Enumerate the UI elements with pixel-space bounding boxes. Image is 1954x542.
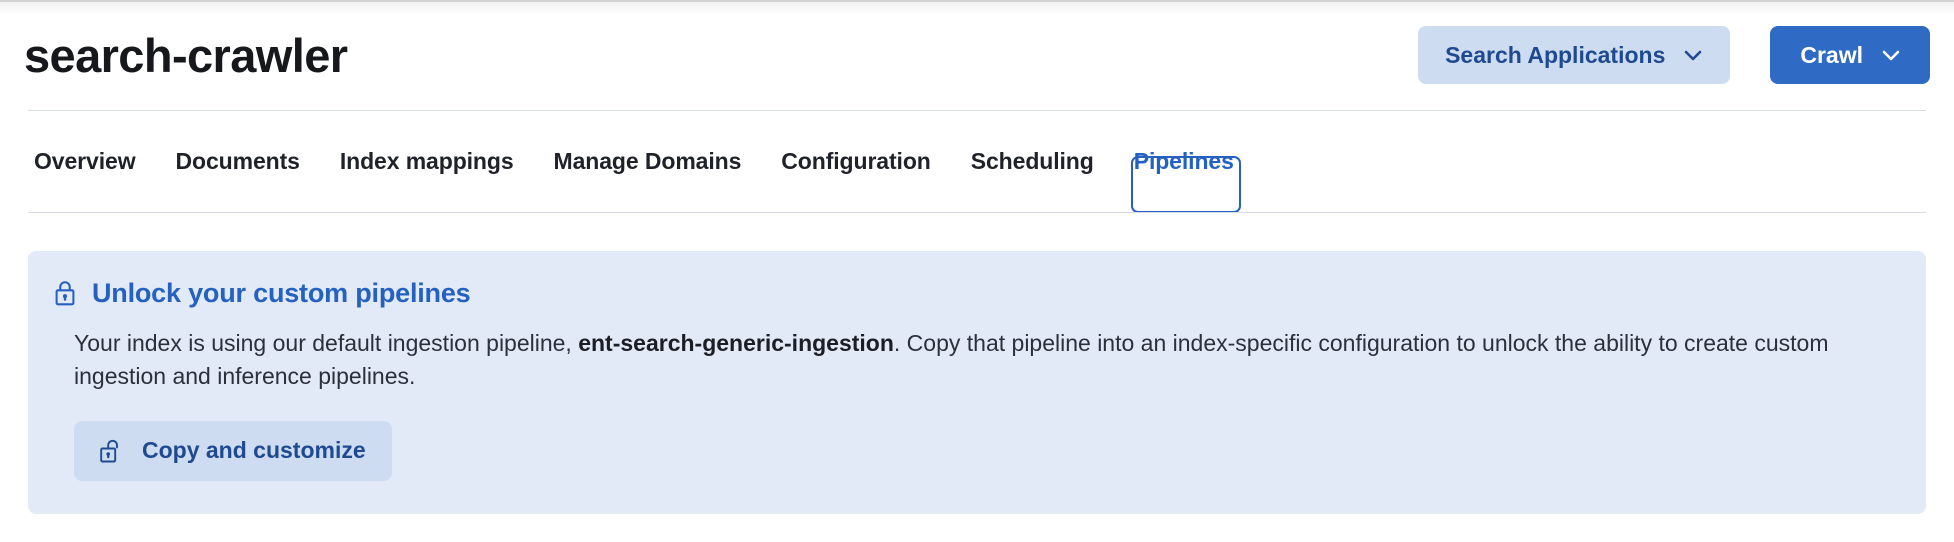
- page-title: search-crawler: [24, 32, 347, 79]
- tab-scheduling[interactable]: Scheduling: [951, 110, 1114, 212]
- unlock-pipelines-callout: Unlock your custom pipelines Your index …: [28, 251, 1926, 514]
- callout-title-row: Unlock your custom pipelines: [52, 277, 1902, 309]
- tab-index-mappings[interactable]: Index mappings: [320, 110, 534, 212]
- crawl-button[interactable]: Crawl: [1770, 26, 1930, 84]
- crawl-label: Crawl: [1800, 44, 1863, 67]
- tab-documents[interactable]: Documents: [156, 110, 320, 212]
- tab-configuration[interactable]: Configuration: [761, 110, 950, 212]
- search-applications-label: Search Applications: [1445, 44, 1665, 67]
- callout-title: Unlock your custom pipelines: [92, 277, 470, 309]
- tab-overview[interactable]: Overview: [28, 110, 156, 212]
- callout-body-pipeline-name: ent-search-generic-ingestion: [578, 330, 894, 356]
- callout-body-prefix: Your index is using our default ingestio…: [74, 330, 578, 356]
- chevron-down-icon: [1879, 43, 1903, 67]
- tab-bar-divider: [28, 212, 1926, 213]
- tab-pipelines[interactable]: Pipelines: [1114, 110, 1254, 212]
- page-header: search-crawler Search Applications Crawl: [0, 0, 1954, 110]
- copy-and-customize-button[interactable]: Copy and customize: [74, 421, 392, 481]
- header-actions: Search Applications Crawl: [1418, 26, 1930, 84]
- chevron-down-icon: [1681, 43, 1705, 67]
- copy-and-customize-label: Copy and customize: [142, 439, 366, 462]
- tab-bar: Overview Documents Index mappings Manage…: [28, 110, 1254, 212]
- lock-closed-icon: [52, 279, 78, 307]
- lock-open-icon: [98, 437, 124, 465]
- tab-manage-domains[interactable]: Manage Domains: [534, 110, 762, 212]
- search-applications-button[interactable]: Search Applications: [1418, 26, 1730, 84]
- callout-body: Your index is using our default ingestio…: [74, 327, 1902, 392]
